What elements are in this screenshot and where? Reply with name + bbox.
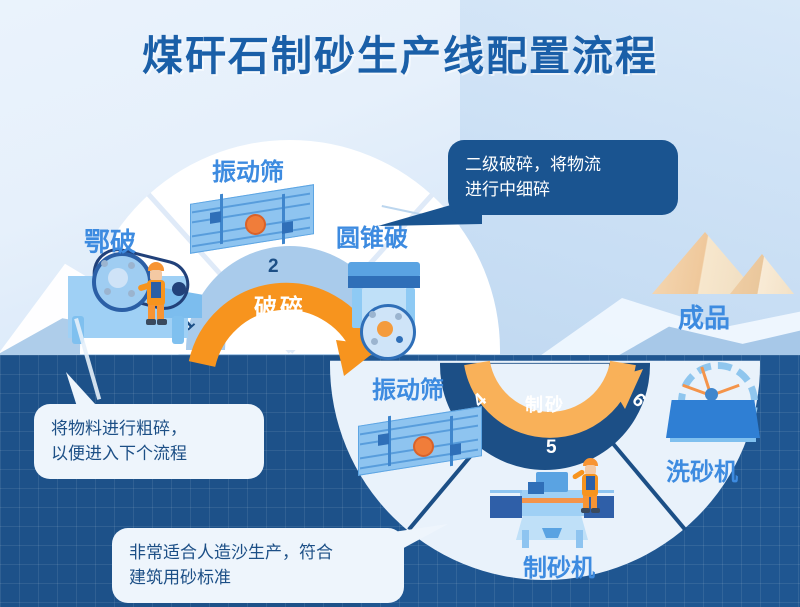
sand-washer-hub bbox=[705, 388, 718, 401]
worker-leg-right bbox=[157, 305, 164, 320]
screen-rail-right bbox=[282, 194, 285, 244]
stage-label-sand-maker: 制砂机 bbox=[523, 548, 595, 583]
jaw-crusher-bolt-a bbox=[101, 260, 108, 267]
cone-crusher-bolt-b bbox=[395, 313, 402, 320]
sand-maker-leg-right bbox=[576, 530, 583, 548]
callout-sand-line-2: 建筑用砂标准 bbox=[129, 566, 387, 591]
cone-crusher-bolt-a bbox=[369, 311, 376, 318]
callout-cone-line-1: 二级破碎，将物流 bbox=[465, 153, 661, 178]
screen-rail-2-right bbox=[450, 416, 453, 466]
worker2-vest bbox=[586, 476, 595, 490]
callout-cone-crusher: 二级破碎，将物流 进行中细碎 bbox=[448, 140, 678, 215]
crushing-arc-label: 破碎 bbox=[205, 288, 355, 322]
worker-figure-sand-maker bbox=[578, 458, 604, 514]
sand-making-arc-label: 制砂 bbox=[485, 391, 605, 417]
jaw-crusher-bolt-d bbox=[128, 290, 135, 297]
screen-motor bbox=[245, 214, 266, 235]
callout-sand-maker: 非常适合人造沙生产，符合 建筑用砂标准 bbox=[112, 528, 404, 603]
stage-label-jaw-crusher: 鄂破 bbox=[84, 222, 136, 259]
callout-jaw-line-1: 将物料进行粗碎， bbox=[51, 417, 247, 442]
worker-boot-right bbox=[157, 319, 167, 325]
stage-label-sand-washer: 洗砂机 bbox=[666, 452, 738, 487]
sand-maker-leg-left bbox=[522, 530, 529, 548]
cone-crusher-bolt-d bbox=[396, 336, 403, 343]
jaw-crusher-bolt-c bbox=[104, 288, 111, 295]
worker-figure-jaw bbox=[142, 262, 170, 326]
callout-sand-line-1: 非常适合人造沙生产，符合 bbox=[129, 541, 387, 566]
vibrating-screen-icon-top bbox=[190, 186, 315, 258]
page-title: 煤矸石制砂生产线配置流程 bbox=[0, 22, 800, 82]
sand-washer-icon bbox=[660, 362, 770, 454]
infographic-canvas: 煤矸石制砂生产线配置流程 制砂 破碎 1 2 3 4 5 6 bbox=[0, 0, 800, 607]
callout-jaw-crusher: 将物料进行粗碎， 以便进入下个流程 bbox=[34, 404, 264, 479]
cone-crusher-bolt-c bbox=[371, 338, 378, 345]
vibrating-screen-icon-bottom bbox=[358, 408, 483, 480]
jaw-crusher-hub bbox=[108, 268, 128, 288]
screen-mount-left bbox=[210, 211, 221, 224]
stage-label-screen-top: 振动筛 bbox=[212, 152, 284, 187]
step-number-2: 2 bbox=[268, 256, 279, 278]
screen-mount-2-right bbox=[450, 443, 461, 456]
worker-vest bbox=[151, 282, 161, 298]
callout-jaw-line-2: 以便进入下个流程 bbox=[51, 442, 247, 467]
sand-pile-icon bbox=[652, 232, 792, 302]
sand-maker-rail-left bbox=[490, 490, 522, 493]
worker2-boot-right bbox=[591, 508, 600, 513]
jaw-crusher-pulley bbox=[172, 282, 186, 296]
worker2-boot-left bbox=[581, 508, 590, 513]
step-number-5: 5 bbox=[546, 437, 557, 459]
worker-leg-left bbox=[148, 305, 155, 320]
jaw-crusher-leg-right bbox=[172, 316, 184, 344]
screen-mount-2-left bbox=[378, 433, 389, 446]
screen-mount-right bbox=[282, 221, 293, 234]
callout-cone-line-2: 进行中细碎 bbox=[465, 178, 661, 203]
cone-crusher-icon bbox=[338, 262, 438, 352]
sand-maker-platform-left bbox=[490, 496, 522, 518]
jaw-crusher-bolt-b bbox=[128, 262, 135, 269]
cone-crusher-band bbox=[348, 276, 420, 288]
screen-motor-2 bbox=[413, 436, 434, 457]
sand-maker-feeder bbox=[528, 482, 544, 494]
stage-label-screen-bottom: 振动筛 bbox=[372, 370, 444, 405]
cone-crusher-hub bbox=[377, 321, 393, 337]
worker-boot-left bbox=[146, 319, 156, 325]
sand-washer-base bbox=[670, 438, 756, 442]
sand-maker-belt bbox=[520, 498, 584, 503]
stage-label-finished-product: 成品 bbox=[678, 298, 730, 335]
sand-washer-tank bbox=[666, 400, 760, 438]
